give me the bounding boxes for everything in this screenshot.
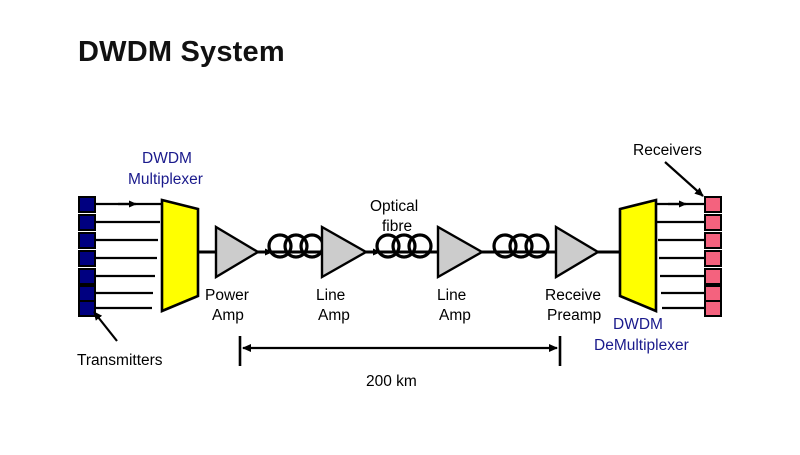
line-amplifier-2[interactable]: Line Amp (437, 227, 482, 324)
line-amplifier-1[interactable]: Line Amp (316, 227, 366, 324)
mux-label-line1: DWDM (142, 150, 192, 167)
power-amp-label-line2: Amp (212, 307, 244, 324)
receivers-callout-arrow (665, 162, 703, 196)
line-amp2-label-line1: Line (437, 287, 466, 304)
receiver-square[interactable] (705, 233, 721, 248)
receive-preamp-label-line2: Preamp (547, 307, 601, 324)
transmitters-label: Transmitters (77, 352, 163, 369)
line-amp2-label-line2: Amp (439, 307, 471, 324)
fibre-coil-icon (269, 235, 323, 257)
dwdm-multiplexer[interactable]: DWDM Multiplexer (128, 150, 203, 311)
receivers-label: Receivers (633, 142, 702, 159)
fibre-coil-icon (409, 235, 431, 257)
optical-fibre-label-line1: Optical (370, 198, 418, 215)
receive-preamp-label-line1: Receive (545, 287, 601, 304)
transmitter-square[interactable] (79, 251, 95, 266)
triangle-amplifier-icon (216, 227, 258, 277)
fibre-coil-icon (494, 235, 556, 257)
line-amp1-label-line1: Line (316, 287, 345, 304)
power-amplifier[interactable]: Power Amp (205, 227, 258, 324)
distance-label: 200 km (366, 373, 417, 390)
dwdm-system-diagram: Transmitters DWDM Multiplexer Power Amp (0, 0, 800, 455)
triangle-amplifier-icon (438, 227, 482, 277)
receiver-square[interactable] (705, 286, 721, 301)
transmitter-square[interactable] (79, 233, 95, 248)
transmitter-square[interactable] (79, 286, 95, 301)
receiver-square[interactable] (705, 269, 721, 284)
receiver-square[interactable] (705, 215, 721, 230)
triangle-amplifier-icon (556, 227, 598, 277)
demux-label-line1: DWDM (613, 316, 663, 333)
trapezoid-icon (162, 200, 198, 311)
receive-preamplifier[interactable]: Receive Preamp (545, 227, 601, 324)
demux-label-line2: DeMultiplexer (594, 337, 689, 354)
distance-dimension: 200 km (240, 336, 560, 390)
triangle-amplifier-icon (322, 227, 366, 277)
transmitters-callout-arrow (94, 312, 117, 341)
transmitter-square[interactable] (79, 269, 95, 284)
receiver-square[interactable] (705, 301, 721, 316)
receiver-square[interactable] (705, 251, 721, 266)
power-amp-label-line1: Power (205, 287, 249, 304)
transmitter-square[interactable] (79, 197, 95, 212)
mux-label-line2: Multiplexer (128, 171, 203, 188)
diagram-canvas: DWDM System (0, 0, 800, 455)
optical-fibre-section: Optical fibre (370, 198, 438, 257)
receiver-square[interactable] (705, 197, 721, 212)
transmitter-group: Transmitters (77, 197, 163, 369)
line-amp1-label-line2: Amp (318, 307, 350, 324)
transmitter-square[interactable] (79, 301, 95, 316)
optical-fibre-label-line2: fibre (382, 218, 412, 235)
transmitter-square[interactable] (79, 215, 95, 230)
trapezoid-icon (620, 200, 656, 311)
